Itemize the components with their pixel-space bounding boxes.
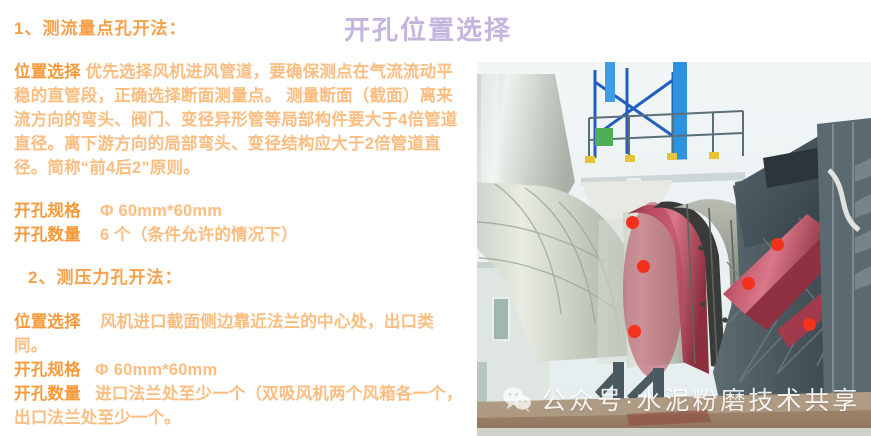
- section-2-count-label: 开孔数量: [14, 385, 81, 403]
- marker-duct-flange-bottom: [628, 325, 641, 338]
- section-2-count-line: 开孔数量 进口法兰处至少一个（双吸风机两个风箱各一个，出口法兰处至少一个。: [14, 382, 474, 430]
- site-photo: [477, 62, 871, 436]
- section-2-position-label: 位置选择: [14, 313, 81, 331]
- text-column: 1、测流量点孔开法： 位置选择 优先选择风机进风管道，要确保测点在气流流动平稳的…: [0, 0, 472, 436]
- section-1-position-label: 位置选择: [14, 63, 81, 81]
- section-1-position-text: 优先选择风机进风管道，要确保测点在气流流动平稳的直管段，正确选择断面测量点。 测…: [14, 63, 458, 177]
- section-2-spec-label: 开孔规格: [14, 361, 81, 379]
- section-1-spec-label: 开孔规格: [14, 202, 81, 220]
- section-1-heading: 1、测流量点孔开法：: [14, 14, 186, 39]
- marker-housing-middle: [742, 277, 755, 290]
- slide-canvas: 开孔位置选择 1、测流量点孔开法： 位置选择 优先选择风机进风管道，要确保测点在…: [0, 0, 871, 436]
- section-2-spec-value: Φ 60mm*60mm: [95, 361, 217, 379]
- section-2-position-paragraph: 位置选择 风机进口截面侧边靠近法兰的中心处，出口类同。: [14, 310, 466, 358]
- section-2-count-value: 进口法兰处至少一个（双吸风机两个风箱各一个，出口法兰处至少一个。: [14, 385, 463, 427]
- section-1-position-paragraph: 位置选择 优先选择风机进风管道，要确保测点在气流流动平稳的直管段，正确选择断面测…: [14, 60, 466, 180]
- marker-duct-flange-top: [626, 216, 639, 229]
- marker-housing-upper: [771, 238, 784, 251]
- section-2-heading: 2、测压力孔开法：: [28, 263, 182, 288]
- section-1-spec-line: 开孔规格 Φ 60mm*60mm: [14, 199, 474, 223]
- site-photo-illustration: [477, 62, 871, 436]
- section-1-spec-value: Φ 60mm*60mm: [100, 202, 222, 220]
- marker-housing-lower: [803, 318, 816, 331]
- section-1-count-line: 开孔数量 6 个（条件允许的情况下）: [14, 223, 474, 247]
- marker-duct-flange-middle: [637, 260, 650, 273]
- section-1-count-value: 6 个（条件允许的情况下）: [100, 226, 298, 244]
- section-1-count-label: 开孔数量: [14, 226, 81, 244]
- section-2-spec-line: 开孔规格 Φ 60mm*60mm: [14, 358, 474, 382]
